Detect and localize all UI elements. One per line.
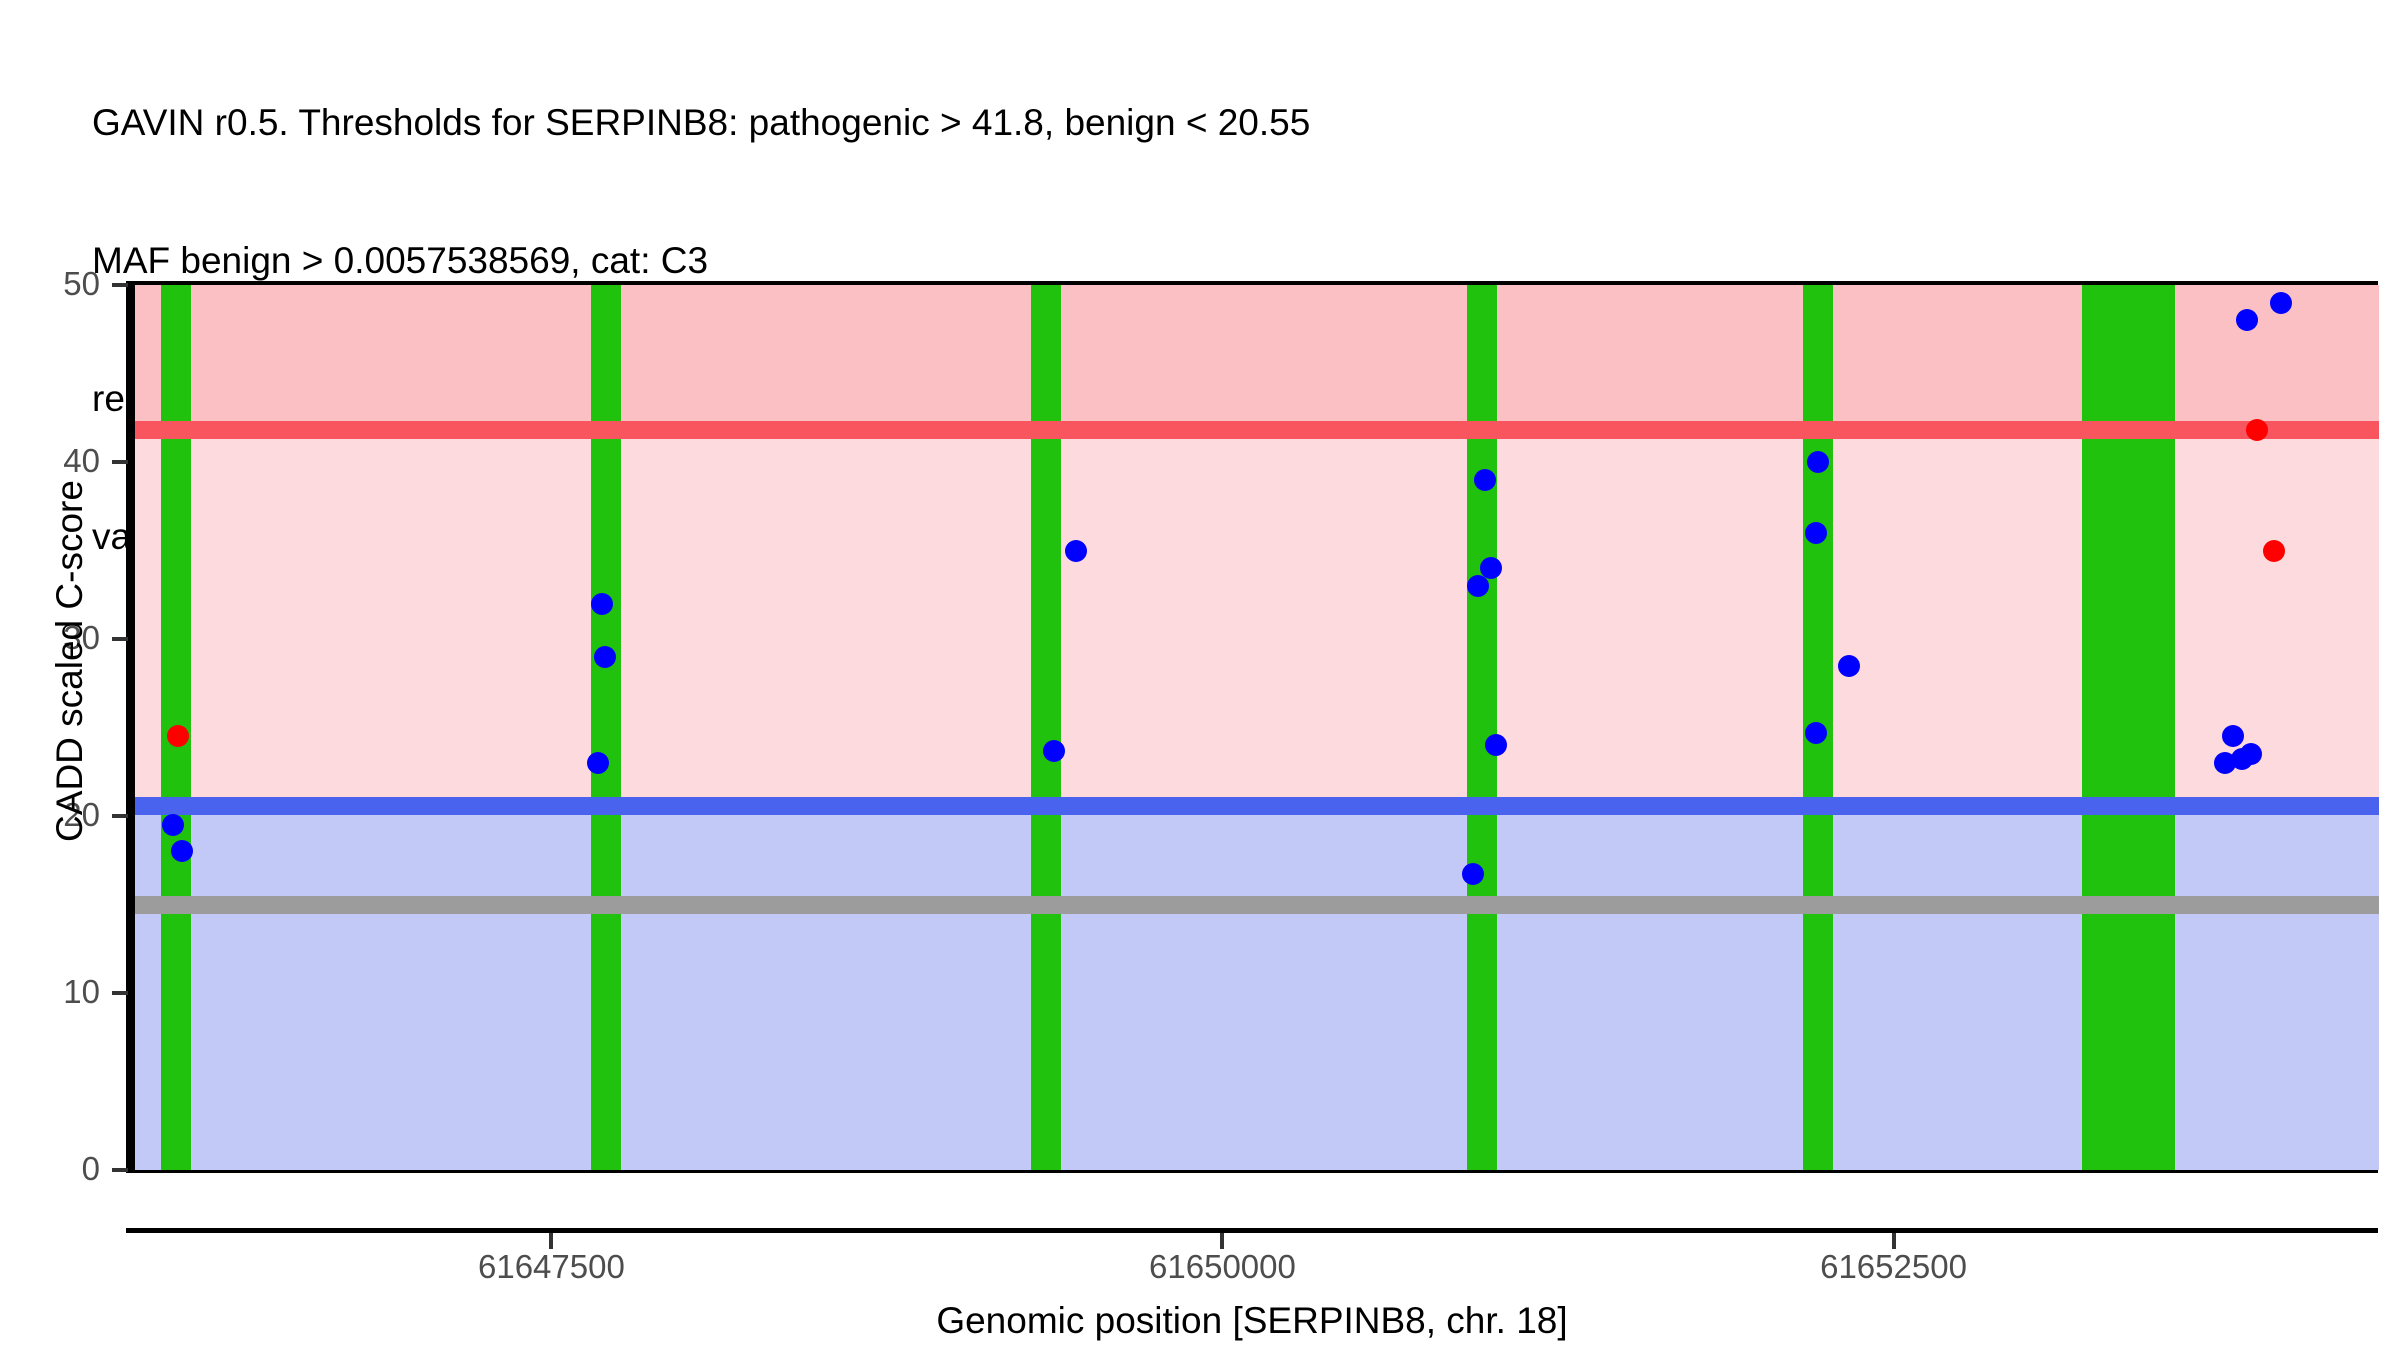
exon-band-6 [2082,285,2175,1170]
y-tick-mark [112,814,128,818]
score-band-2 [135,806,2379,1170]
gnomad-variant-point [1807,451,1829,473]
exon-band-3 [1031,285,1061,1170]
plot-area [135,285,2379,1170]
plot-panel [130,285,2379,1170]
clinvar-pathogenic-point [2246,419,2268,441]
gnomad-variant-point [1805,522,1827,544]
clinvar-pathogenic-point [2263,540,2285,562]
gnomad-variant-point [1043,740,1065,762]
threshold-line-0 [135,421,2379,439]
exon-band-4 [1467,285,1497,1170]
exon-band-2 [591,285,621,1170]
gnomad-variant-point [162,814,184,836]
score-band-1 [135,430,2379,806]
y-axis-label: CADD scaled C-score [49,281,91,1041]
threshold-line-1 [135,797,2379,815]
gnomad-variant-point [594,646,616,668]
x-tick-label: 61650000 [1072,1248,1372,1286]
y-tick-mark [112,460,128,464]
y-tick-label: 0 [0,1150,100,1188]
y-tick-mark [112,991,128,995]
chart-root: GAVIN r0.5. Thresholds for SERPINB8: pat… [0,0,2400,1350]
x-tick-mark [1220,1233,1224,1249]
gnomad-variant-point [1805,722,1827,744]
score-band-0 [135,285,2379,430]
threshold-line-2 [135,896,2379,914]
gnomad-variant-point [1065,540,1087,562]
x-tick-label: 61647500 [401,1248,701,1286]
gnomad-variant-point [587,752,609,774]
gnomad-variant-point [2240,743,2262,765]
gnomad-variant-point [1467,575,1489,597]
y-tick-mark [112,1168,128,1172]
x-tick-mark [549,1233,553,1249]
y-tick-mark [112,283,128,287]
title-line-2: MAF benign > 0.0057538569, cat: C3 [92,238,2292,284]
x-axis-label: Genomic position [SERPINB8, chr. 18] [130,1300,2374,1342]
title-line-1: GAVIN r0.5. Thresholds for SERPINB8: pat… [92,100,2292,146]
x-axis-line [126,1228,2378,1233]
gnomad-variant-point [2270,292,2292,314]
gnomad-variant-point [591,593,613,615]
gnomad-variant-point [1838,655,1860,677]
gnomad-variant-point [1474,469,1496,491]
y-tick-mark [112,637,128,641]
x-tick-mark [1892,1233,1896,1249]
x-tick-label: 61652500 [1744,1248,2044,1286]
